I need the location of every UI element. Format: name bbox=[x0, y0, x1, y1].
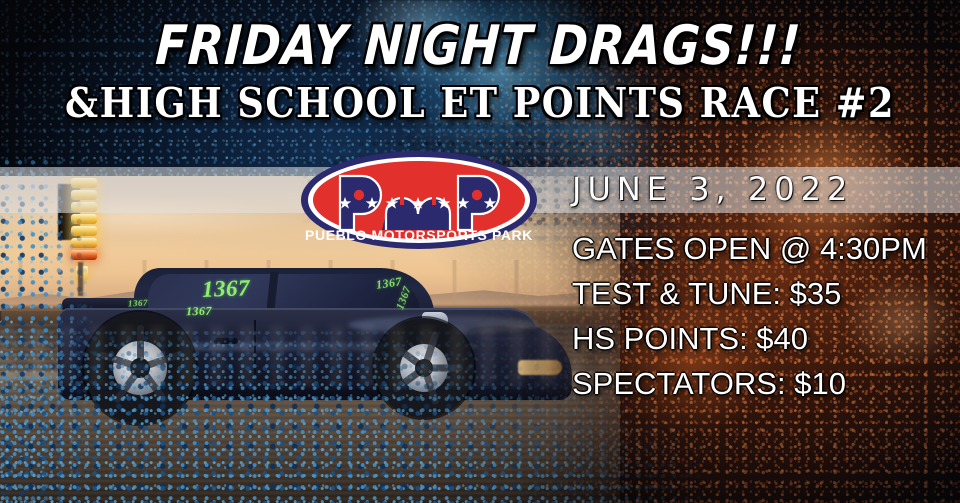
detail-spectators: SPECTATORS: $10 bbox=[572, 361, 927, 406]
headline-primary: FRIDAY NIGHT DRAGS!!! bbox=[0, 18, 960, 72]
headline-secondary: &HIGH SCHOOL ET POINTS RACE #2 bbox=[5, 83, 955, 124]
pmp-logo: PUEBLO MOTORSPORTS PARK bbox=[300, 150, 538, 250]
event-flyer: 1367 1367 1367 1367 1367 FRIDAY NIGHT DR… bbox=[0, 0, 960, 503]
detail-hs-points: HS POINTS: $40 bbox=[572, 316, 927, 361]
detail-test-tune: TEST & TUNE: $35 bbox=[572, 271, 927, 316]
event-details-list: GATES OPEN @ 4:30PM TEST & TUNE: $35 HS … bbox=[572, 226, 927, 406]
event-date: JUNE 3, 2022 bbox=[572, 170, 853, 208]
detail-gates-open: GATES OPEN @ 4:30PM bbox=[572, 226, 927, 271]
pmp-logo-wordmark: PUEBLO MOTORSPORTS PARK bbox=[305, 227, 533, 243]
